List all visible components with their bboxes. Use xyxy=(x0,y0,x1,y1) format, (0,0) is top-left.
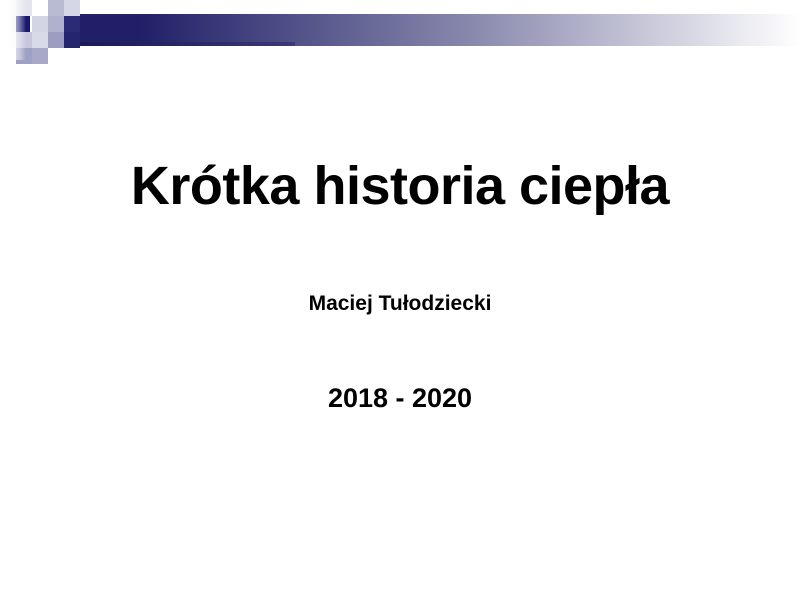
presentation-slide: Krótka historia ciepła Maciej Tułodzieck… xyxy=(0,0,800,600)
slide-date-range: 2018 - 2020 xyxy=(0,384,800,414)
slide-title: Krótka historia ciepła xyxy=(0,158,800,215)
slide-author: Maciej Tułodziecki xyxy=(0,292,800,315)
slide-text-block: Krótka historia ciepła Maciej Tułodzieck… xyxy=(0,0,800,600)
